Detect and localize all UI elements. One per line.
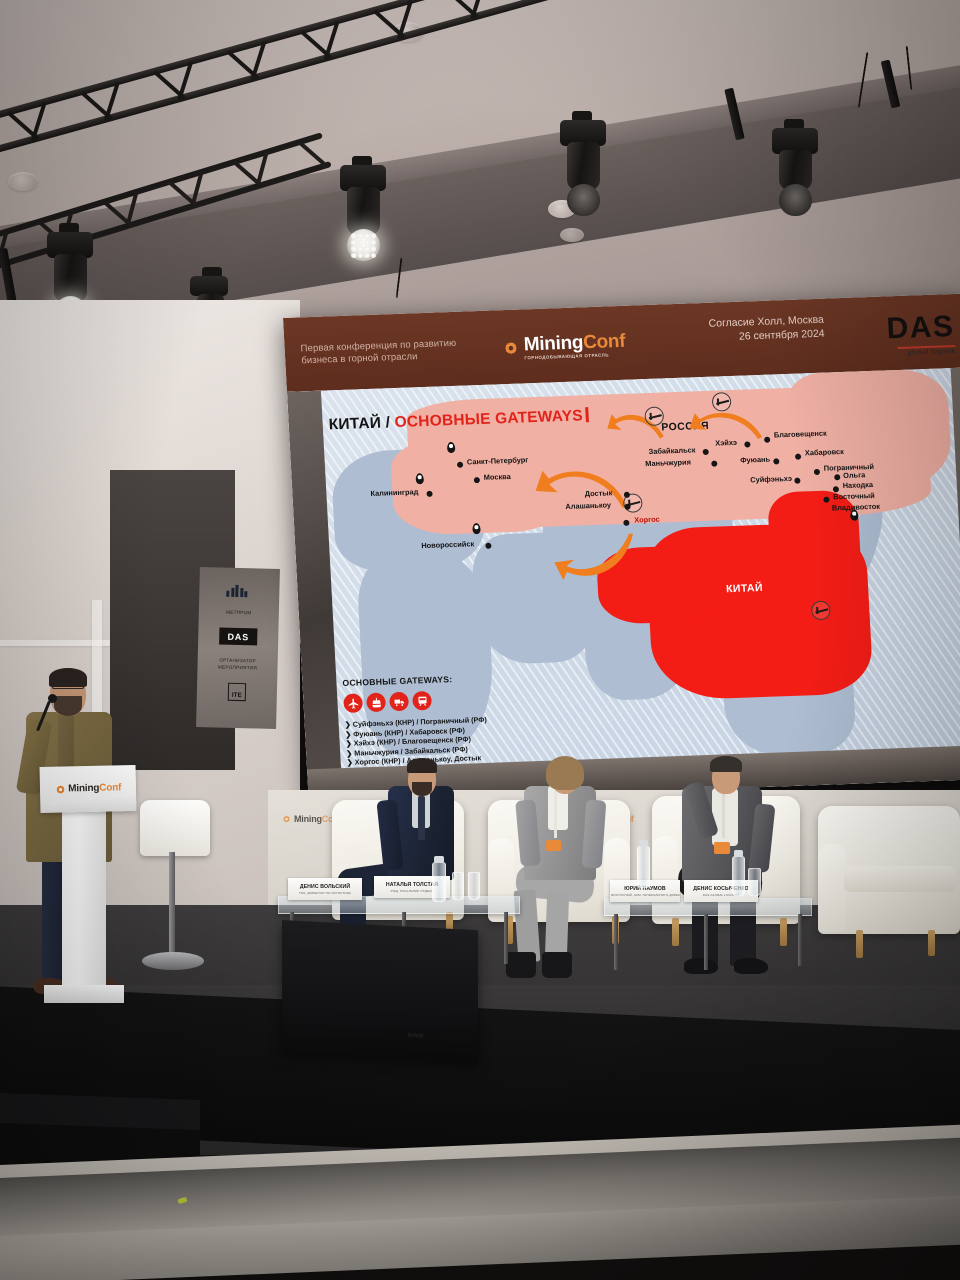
chevron-right-icon: ❯	[344, 720, 351, 729]
gear-icon	[55, 784, 66, 795]
podium-brand-conf: Conf	[99, 782, 121, 793]
panelist-2-boot-right	[542, 952, 572, 978]
podium-miningconf-logo: MiningConf	[55, 783, 122, 795]
brand-subtitle: ГОРНОДОБЫВАЮЩАЯ ОТРАСЛЬ	[524, 353, 626, 361]
barstool-base	[142, 952, 204, 970]
legend-transport-icons	[343, 689, 486, 713]
city-label-saint-petersburg: Санкт-Петербург	[467, 456, 529, 466]
nameplate-panelist-1: ДЕНИС ВОЛЬСКИЙ ГМК, ДИРЕКТОР ПО ЛОГИСТИК…	[288, 878, 362, 900]
train-icon	[412, 691, 432, 711]
podium-column	[62, 800, 106, 1000]
panelist-3-lanyard	[722, 792, 725, 838]
table-leg	[798, 914, 802, 966]
city-label-blagoveshchensk: Благовещенск	[774, 430, 827, 439]
nameplate-role: РЖД, НАЧАЛЬНИК ОТДЕЛА	[391, 889, 434, 893]
nameplate-name: ДЕНИС ВОЛЬСКИЙ	[300, 884, 350, 890]
city-label-zabaykalsk: Забайкальск	[648, 446, 695, 455]
gear-icon	[282, 815, 291, 824]
ceiling-downlight	[8, 172, 38, 191]
panelist-1-hair	[407, 758, 437, 773]
armchair-arm-left	[818, 844, 846, 932]
plane-icon	[343, 693, 363, 713]
city-label-heihe: Хэйхэ	[715, 439, 737, 447]
metprom-label: МЕТПРОМ	[226, 610, 252, 616]
port-pin-kaliningrad	[415, 473, 424, 484]
panelist-3-hair	[710, 756, 742, 772]
ship-icon	[366, 693, 386, 713]
slide-title-country: КИТАЙ /	[328, 414, 395, 433]
bottle-cap	[434, 856, 444, 863]
city-label-fuyuan: Фуюань	[740, 456, 770, 464]
das-wordmark: DAS	[886, 312, 955, 344]
podium-front-panel: MiningConf	[40, 765, 137, 813]
city-label-dostyk: Достык	[585, 489, 613, 497]
city-label-manzhouli: Маньчжурия	[645, 458, 691, 467]
organizer-label-line2: МЕРОПРИЯТИЯ	[218, 665, 257, 671]
table-leg	[704, 914, 708, 970]
stage-monitor-speaker: VIVO	[282, 920, 478, 1062]
panelist-2-boot-left	[506, 952, 536, 978]
ceiling	[0, 0, 960, 340]
panelist-2-lanyard	[554, 790, 557, 838]
slide-tagline: Первая конференция по развитию бизнеса в…	[300, 336, 511, 367]
barstool-seat	[140, 800, 210, 856]
sponsor-banner: МЕТПРОМ DAS ОРГАНИЗАТОР МЕРОПРИЯТИЯ ITE	[196, 567, 280, 729]
table-leg	[614, 914, 618, 970]
armchair-seat-cushion	[844, 866, 956, 892]
panelist-2-badge	[546, 840, 561, 851]
ite-logo-icon: ITE	[228, 683, 246, 701]
panelist-3-badge	[714, 842, 730, 854]
led-presentation-screen: Первая конференция по развитию бизнеса в…	[283, 293, 960, 803]
water-bottle	[732, 856, 745, 896]
chevron-right-icon: ❯	[345, 739, 352, 748]
brand-mining: Mining	[523, 332, 583, 355]
panelist-1-beard	[412, 782, 432, 796]
chevron-right-icon: ❯	[346, 749, 353, 758]
brand-conf: Conf	[583, 331, 626, 353]
port-pin-novorossiysk	[472, 523, 481, 534]
drinking-glass	[468, 872, 480, 900]
armchair-leg	[928, 930, 935, 956]
speaker-glasses	[52, 684, 84, 689]
drinking-glass	[452, 872, 464, 900]
armchair-leg	[780, 918, 787, 946]
city-label-moscow: Москва	[484, 473, 511, 481]
organizer-label-line1: ОРГАНИЗАТОР	[219, 658, 256, 664]
panelist-1-tie	[418, 796, 425, 840]
microphone-head	[48, 694, 57, 703]
bottle-cap	[734, 850, 743, 857]
das-logo-badge: DAS	[219, 628, 257, 646]
monitor-brand-label: VIVO	[408, 1033, 424, 1040]
route-arrow-southwest	[553, 530, 636, 581]
city-label-kaliningrad: Калининград	[370, 488, 418, 497]
panelist-3-tshirt	[712, 788, 738, 846]
podium-brand-mining: Mining	[68, 783, 99, 795]
panelist-2-leg-lower-b	[545, 892, 569, 961]
slide-map-area: КИТАЙ / ОСНОВНЫЕ GATEWAYS РОССИЯ КИТАЙ	[287, 367, 960, 803]
armchair-leg	[672, 918, 679, 946]
water-bottle	[432, 862, 446, 902]
metprom-logo-icon	[226, 584, 252, 598]
nameplate-role: ПОРТ ВОСТОЧНЫЙ, ЗАМ. ГЕНЕРАЛЬНОГО ДИРЕКТ…	[610, 893, 680, 897]
city-label-suifenhe: Суйфэньхэ	[750, 475, 792, 484]
podium-base	[44, 985, 124, 1003]
city-label-olga: Ольга	[843, 471, 865, 479]
city-label-vladivostok: Владивосток	[832, 503, 880, 512]
port-pin-saint-petersburg	[447, 442, 456, 453]
conference-stage-photo: МЕТПРОМ DAS ОРГАНИЗАТОР МЕРОПРИЯТИЯ ITE …	[0, 0, 960, 1280]
nameplate-name: НАТАЛЬЯ ТОЛСТАЯ	[386, 882, 438, 888]
truck-icon	[389, 692, 409, 712]
chevron-right-icon: ❯	[345, 729, 352, 738]
ceiling-downlight	[560, 228, 584, 242]
city-label-novorossiysk: Новороссийск	[421, 540, 474, 549]
event-place-date: Согласие Холл, Москва 26 сентября 2024	[708, 313, 825, 345]
chevron-right-icon: ❯	[347, 758, 354, 767]
drinking-glass	[748, 868, 761, 896]
city-label-khabarovsk: Хабаровск	[805, 448, 844, 457]
barstool-pole	[169, 852, 175, 962]
gear-icon	[503, 340, 520, 357]
table-leg	[504, 912, 508, 964]
nameplate-panelist-4: ДЕНИС КОСЫЧЕНКО DAS GLOBAL LOGISTIK	[684, 880, 758, 902]
route-arrow-west	[534, 466, 627, 523]
city-label-vostochny: Восточный	[833, 492, 875, 501]
country-label-china: КИТАЙ	[726, 583, 763, 595]
speaker-beard	[54, 696, 82, 716]
panelist-2-hair	[546, 756, 584, 790]
miningconf-logo: MiningConf ГОРНОДОБЫВАЮЩАЯ ОТРАСЛЬ	[502, 332, 626, 362]
water-bottle	[637, 846, 650, 888]
miningconf-wordmark: MiningConf ГОРНОДОБЫВАЮЩАЯ ОТРАСЛЬ	[523, 332, 626, 361]
city-label-alashankou: Алашанькоу	[565, 501, 611, 510]
das-logo: DAS global logistik	[886, 312, 956, 357]
ite-label: ITE	[232, 691, 242, 700]
panelist-3-shoe-right	[734, 958, 768, 974]
city-label-nakhodka: Находка	[843, 481, 874, 489]
panelist-3-shoe-left	[684, 958, 718, 974]
armchair-leg	[856, 930, 863, 958]
bottle-cap	[639, 840, 648, 847]
city-label-khorgos: Хоргос	[634, 516, 660, 524]
nameplate-role: ГМК, ДИРЕКТОР ПО ЛОГИСТИКЕ	[299, 891, 351, 895]
led-array-icon	[351, 233, 376, 257]
